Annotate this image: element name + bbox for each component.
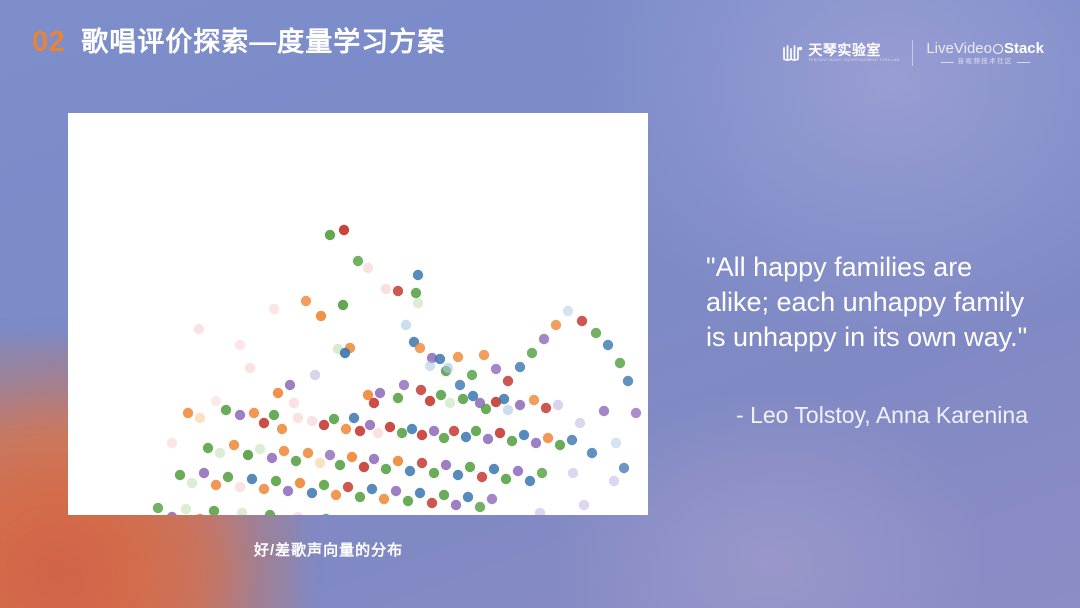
quote-attribution: - Leo Tolstoy, Anna Karenina (706, 401, 1028, 431)
scatter-point (181, 504, 191, 514)
scatter-point (393, 286, 403, 296)
scatter-point (417, 430, 427, 440)
scatter-point (487, 494, 497, 504)
scatter-point (501, 474, 511, 484)
scatter-point (369, 454, 379, 464)
scatter-point (194, 324, 204, 334)
section-number: 02 (32, 28, 65, 57)
scatter-point (301, 296, 311, 306)
scatter-point (439, 490, 449, 500)
scatter-point (187, 478, 197, 488)
livevideostack-subtitle: 音视频技术社区 (958, 59, 1013, 66)
scatter-point (285, 380, 295, 390)
scatter-point (310, 370, 320, 380)
scatter-point (435, 354, 445, 364)
scatter-point (319, 480, 329, 490)
scatter-point (568, 468, 578, 478)
scatter-point (215, 448, 225, 458)
rule-left-icon (941, 62, 954, 63)
scatter-point (425, 396, 435, 406)
scatter-point (316, 311, 326, 321)
scatter-point (427, 498, 437, 508)
scatter-point (416, 385, 426, 395)
scatter-point (401, 320, 411, 330)
scatter-point (539, 334, 549, 344)
scatter-plot-panel (68, 113, 648, 515)
scatter-point (335, 460, 345, 470)
rule-right-icon (1017, 62, 1030, 63)
scatter-point (199, 468, 209, 478)
lvs-word-stack: Stack (1004, 41, 1044, 56)
scatter-point (175, 470, 185, 480)
scatter-point (321, 514, 331, 515)
scatter-point (463, 492, 473, 502)
scatter-point (273, 388, 283, 398)
scatter-point (295, 478, 305, 488)
scatter-point (277, 424, 287, 434)
scatter-point (211, 396, 221, 406)
scatter-point (417, 458, 427, 468)
scatter-point (499, 394, 509, 404)
scatter-point (567, 435, 577, 445)
scatter-point (183, 408, 193, 418)
livevideostack-subtitle-row: 音视频技术社区 (941, 59, 1030, 66)
scatter-point (167, 512, 177, 515)
lyra-lab-logo: 天琴实验室 TENCENT MUSIC ENTERTAINMENT LYRA L… (782, 43, 899, 63)
lvs-word-video: Video (954, 41, 992, 56)
page-title: 歌唱评价探索—度量学习方案 (81, 29, 445, 56)
scatter-point (465, 462, 475, 472)
scatter-point (425, 361, 435, 371)
scatter-point (355, 426, 365, 436)
scatter-point (413, 270, 423, 280)
scatter-point (537, 468, 547, 478)
scatter-point (399, 380, 409, 390)
scatter-point (535, 508, 545, 515)
scatter-point (325, 450, 335, 460)
scatter-point (507, 436, 517, 446)
livevideostack-wordmark: LiveVideoStack (926, 41, 1044, 56)
scatter-point (489, 464, 499, 474)
scatter-point (449, 426, 459, 436)
scatter-point (279, 446, 289, 456)
scatter-point (343, 482, 353, 492)
scatter-point (341, 424, 351, 434)
scatter-point (393, 456, 403, 466)
scatter-point (413, 298, 423, 308)
scatter-point (307, 416, 317, 426)
scatter-point (495, 428, 505, 438)
scatter-point (455, 380, 465, 390)
scatter-point (479, 350, 489, 360)
scatter-point (415, 343, 425, 353)
scatter-point (429, 426, 439, 436)
scatter-point (259, 484, 269, 494)
scatter-point (403, 496, 413, 506)
chart-caption: 好/差歌声向量的分布 (254, 539, 403, 560)
scatter-point (513, 466, 523, 476)
quote-text: "All happy families are alike; each unha… (706, 250, 1028, 355)
scatter-point (353, 256, 363, 266)
scatter-point (575, 418, 585, 428)
circle-dot-icon (993, 44, 1003, 54)
scatter-point (541, 403, 551, 413)
scatter-point (365, 420, 375, 430)
scatter-point (291, 456, 301, 466)
scatter-point (331, 490, 341, 500)
scatter-point (195, 413, 205, 423)
scatter-point (415, 488, 425, 498)
scatter-point (519, 430, 529, 440)
scatter-point (481, 404, 491, 414)
scatter-point (269, 304, 279, 314)
scatter-plot (68, 113, 648, 515)
scatter-point (293, 413, 303, 423)
scatter-point (599, 406, 609, 416)
scatter-point (221, 405, 231, 415)
scatter-point (515, 400, 525, 410)
scatter-point (475, 502, 485, 512)
scatter-point (195, 514, 205, 515)
scatter-point (515, 362, 525, 372)
scatter-point (211, 480, 221, 490)
quote-block: "All happy families are alike; each unha… (706, 250, 1028, 431)
scatter-point (339, 225, 349, 235)
scatter-point (307, 488, 317, 498)
scatter-point (247, 474, 257, 484)
scatter-point (603, 340, 613, 350)
scatter-point (451, 500, 461, 510)
scatter-point (529, 395, 539, 405)
scatter-point (615, 358, 625, 368)
scatter-point (411, 288, 421, 298)
scatter-point (373, 428, 383, 438)
lyra-lab-text: 天琴实验室 TENCENT MUSIC ENTERTAINMENT LYRA L… (808, 43, 899, 63)
scatter-point (551, 320, 561, 330)
scatter-point (347, 452, 357, 462)
scatter-point (471, 426, 481, 436)
scatter-point (436, 390, 446, 400)
scatter-point (235, 410, 245, 420)
scatter-point (367, 484, 377, 494)
scatter-point (381, 464, 391, 474)
scatter-point (393, 393, 403, 403)
scatter-point (265, 510, 275, 515)
scatter-point (577, 316, 587, 326)
scatter-point (203, 443, 213, 453)
scatter-point (525, 476, 535, 486)
scatter-point (249, 408, 259, 418)
scatter-point (269, 410, 279, 420)
scatter-point (453, 352, 463, 362)
scatter-point (591, 328, 601, 338)
scatter-point (237, 508, 247, 515)
scatter-point (439, 433, 449, 443)
lyra-lab-en-name: TENCENT MUSIC ENTERTAINMENT LYRA LAB (808, 59, 899, 63)
scatter-point (359, 462, 369, 472)
slide-title-row: 02 歌唱评价探索—度量学习方案 (32, 28, 445, 57)
scatter-point (167, 438, 177, 448)
scatter-point (443, 363, 453, 373)
scatter-point (477, 472, 487, 482)
scatter-point (483, 434, 493, 444)
scatter-point (631, 408, 641, 418)
scatter-point (255, 444, 265, 454)
scatter-point (391, 486, 401, 496)
logo-divider-icon (912, 40, 913, 66)
scatter-point (243, 450, 253, 460)
scatter-point (245, 363, 255, 373)
scatter-point (223, 472, 233, 482)
scatter-point (397, 428, 407, 438)
scatter-point (619, 463, 629, 473)
scatter-point (349, 413, 359, 423)
scatter-point (340, 348, 350, 358)
presentation-slide: 02 歌唱评价探索—度量学习方案 天琴实验室 (0, 0, 1080, 608)
scatter-point (429, 468, 439, 478)
scatter-point (503, 405, 513, 415)
scatter-point (259, 418, 269, 428)
lyra-lab-cn-name: 天琴实验室 (808, 43, 899, 57)
scatter-point (491, 364, 501, 374)
scatter-point (587, 448, 597, 458)
scatter-point (379, 494, 389, 504)
scatter-point (271, 476, 281, 486)
scatter-point (623, 376, 633, 386)
scatter-point (375, 388, 385, 398)
scatter-point (407, 424, 417, 434)
scatter-point (385, 422, 395, 432)
scatter-point (319, 420, 329, 430)
scatter-point (209, 506, 219, 515)
scatter-point (543, 433, 553, 443)
scatter-point (325, 230, 335, 240)
livevideostack-logo: LiveVideoStack 音视频技术社区 (926, 41, 1044, 66)
scatter-point (153, 503, 163, 513)
scatter-point (283, 486, 293, 496)
scatter-point (355, 492, 365, 502)
scatter-point (405, 466, 415, 476)
scatter-point (531, 438, 541, 448)
scatter-point (527, 348, 537, 358)
scatter-point (229, 440, 239, 450)
scatter-point (329, 414, 339, 424)
logo-group: 天琴实验室 TENCENT MUSIC ENTERTAINMENT LYRA L… (782, 40, 1044, 66)
scatter-point (555, 440, 565, 450)
scatter-point (441, 460, 451, 470)
scatter-point (315, 458, 325, 468)
scatter-point (235, 482, 245, 492)
scatter-point (611, 438, 621, 448)
scatter-point (579, 500, 589, 510)
lyra-waveform-icon (782, 45, 803, 62)
scatter-point (235, 340, 245, 350)
scatter-point (458, 394, 468, 404)
scatter-point (267, 453, 277, 463)
scatter-point (445, 398, 455, 408)
scatter-point (289, 398, 299, 408)
scatter-point (553, 400, 563, 410)
lvs-word-live: Live (926, 41, 954, 56)
scatter-point (461, 432, 471, 442)
scatter-point (453, 470, 463, 480)
scatter-point (381, 284, 391, 294)
scatter-point (369, 398, 379, 408)
scatter-point (467, 370, 477, 380)
slide-header: 02 歌唱评价探索—度量学习方案 天琴实验室 (0, 0, 1080, 96)
scatter-point (363, 263, 373, 273)
scatter-point (609, 476, 619, 486)
scatter-point (563, 306, 573, 316)
scatter-point (293, 512, 303, 515)
scatter-point (503, 376, 513, 386)
scatter-point (338, 300, 348, 310)
scatter-point (303, 448, 313, 458)
